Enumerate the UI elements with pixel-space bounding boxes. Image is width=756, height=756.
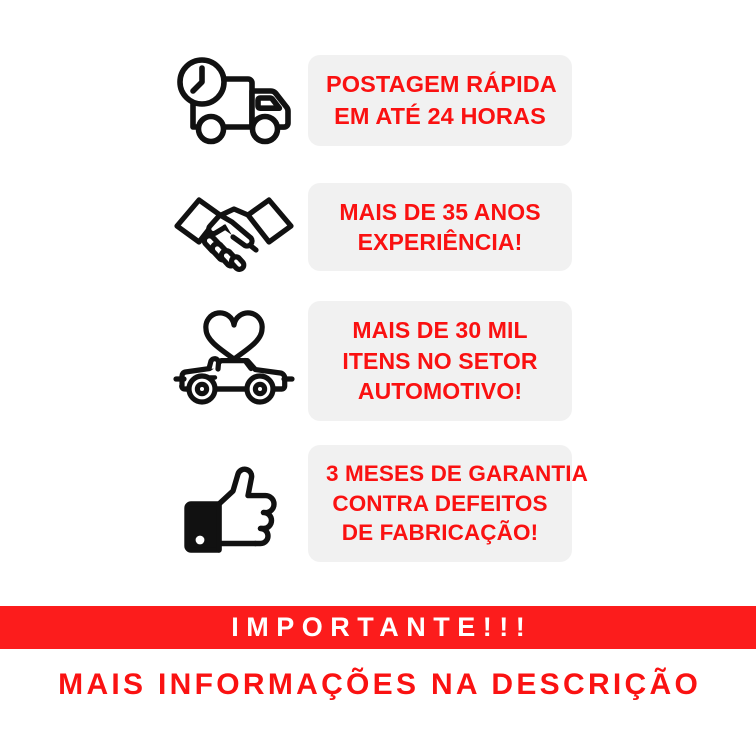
callout-line: MAIS DE 30 MIL: [326, 315, 554, 345]
callout-line: EM ATÉ 24 HORAS: [326, 101, 554, 132]
callout-line: DE FABRICAÇÃO!: [326, 518, 554, 548]
callout-line: CONTRA DEFEITOS: [326, 489, 554, 519]
feature-row: 3 MESES DE GARANTIA CONTRA DEFEITOS DE F…: [0, 431, 756, 576]
description-note-text: MAIS INFORMAÇÕES NA DESCRIÇÃO: [55, 668, 701, 702]
important-banner: IMPORTANTE!!!: [0, 606, 756, 649]
thumbs-up-icon: [160, 452, 308, 556]
feature-row: MAIS DE 35 ANOS EXPERIÊNCIA!: [0, 163, 756, 291]
callout-line: AUTOMOTIVO!: [326, 376, 554, 406]
callout-shipping: POSTAGEM RÁPIDA EM ATÉ 24 HORAS: [308, 55, 572, 145]
delivery-truck-clock-icon: [160, 53, 308, 149]
handshake-icon: [160, 182, 308, 272]
callout-line: ITENS NO SETOR: [326, 346, 554, 376]
callout-experience: MAIS DE 35 ANOS EXPERIÊNCIA!: [308, 183, 572, 272]
features-list: POSTAGEM RÁPIDA EM ATÉ 24 HORAS: [0, 0, 756, 600]
feature-row: MAIS DE 30 MIL ITENS NO SETOR AUTOMOTIVO…: [0, 291, 756, 431]
promo-banner-page: POSTAGEM RÁPIDA EM ATÉ 24 HORAS: [0, 0, 756, 756]
car-heart-icon: [160, 309, 308, 413]
callout-line: 3 MESES DE GARANTIA: [326, 459, 554, 489]
callout-warranty: 3 MESES DE GARANTIA CONTRA DEFEITOS DE F…: [308, 445, 572, 562]
description-note: MAIS INFORMAÇÕES NA DESCRIÇÃO: [0, 655, 756, 715]
callout-catalog: MAIS DE 30 MIL ITENS NO SETOR AUTOMOTIVO…: [308, 301, 572, 420]
callout-line: POSTAGEM RÁPIDA: [326, 69, 554, 100]
callout-line: MAIS DE 35 ANOS: [326, 197, 554, 227]
callout-line: EXPERIÊNCIA!: [326, 227, 554, 257]
feature-row: POSTAGEM RÁPIDA EM ATÉ 24 HORAS: [0, 38, 756, 163]
important-banner-text: IMPORTANTE!!!: [224, 612, 532, 643]
